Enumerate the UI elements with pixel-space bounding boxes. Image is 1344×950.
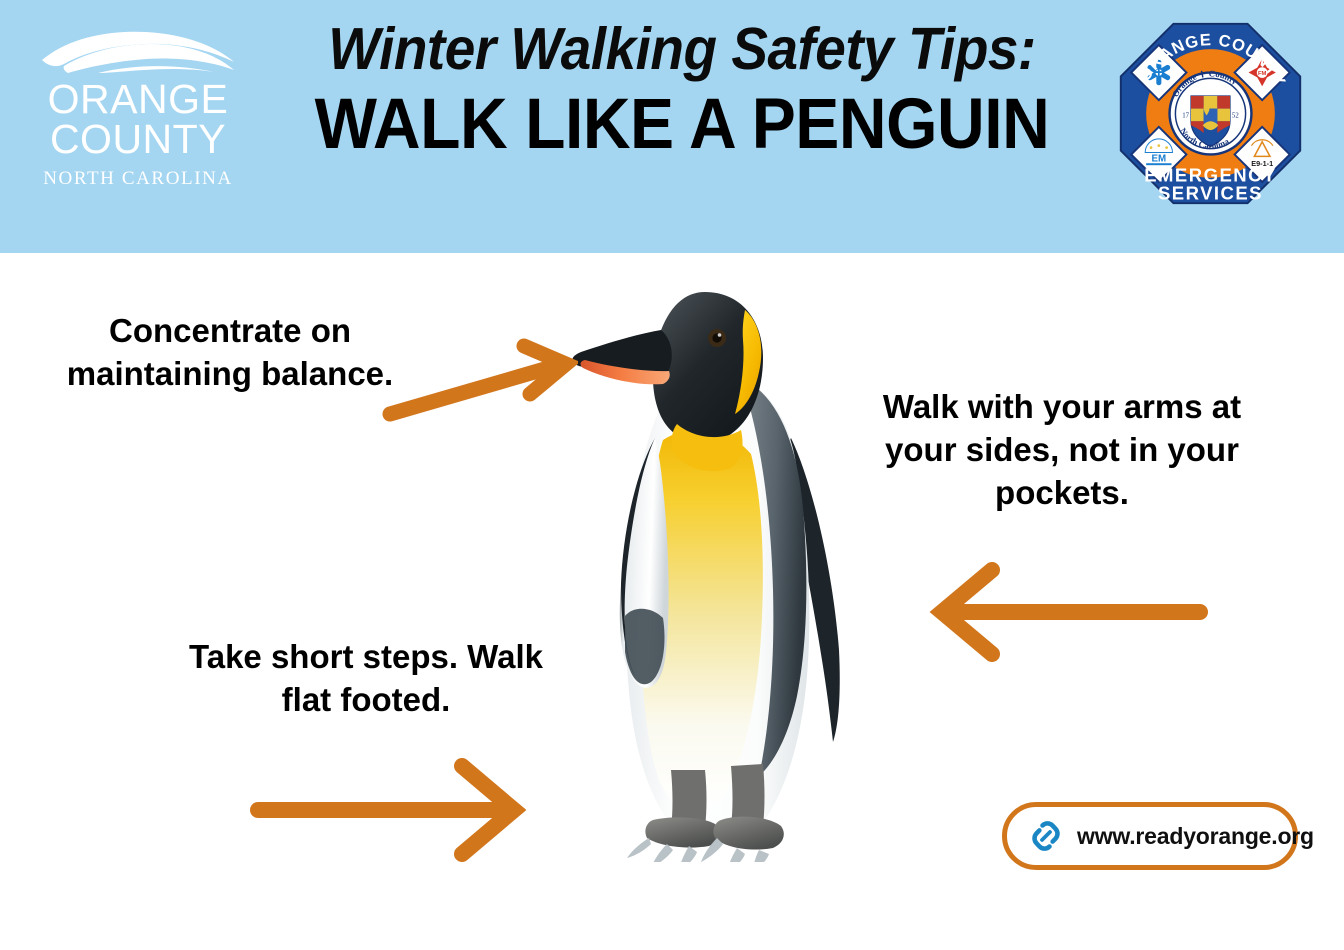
title-subheading: Winter Walking Safety Tips:: [291, 18, 1072, 81]
emergency-services-badge: Orange ✝ County North Carolina 17 52: [1113, 16, 1308, 211]
logo-name-line1: ORANGE: [38, 80, 238, 120]
seal-year-left: 17: [1182, 112, 1189, 119]
svg-text:EM: EM: [1152, 153, 1167, 164]
tip-balance-text: Concentrate on maintaining balance.: [56, 310, 404, 396]
title-headline: WALK LIKE A PENGUIN: [291, 87, 1072, 164]
tip-arms-text: Walk with your arms at your sides, not i…: [846, 386, 1278, 515]
arrow-up-right-icon: [378, 338, 578, 430]
infographic-poster: ORANGE COUNTY NORTH CAROLINA Winter Walk…: [0, 0, 1344, 950]
penguin-left-foot: [645, 817, 718, 847]
king-penguin-illustration: [545, 272, 875, 862]
tip-steps-text: Take short steps. Walk flat footed.: [176, 636, 556, 722]
arrow-right-icon: [248, 758, 526, 862]
arrow-left-icon: [928, 560, 1212, 664]
page-title: Winter Walking Safety Tips: WALK LIKE A …: [262, 18, 1102, 163]
logo-county-name: ORANGE COUNTY: [38, 80, 238, 160]
logo-name-line2: COUNTY: [38, 120, 238, 160]
website-badge[interactable]: www.readyorange.org: [1002, 802, 1298, 870]
penguin-right-leg: [731, 764, 765, 826]
header-band: ORANGE COUNTY NORTH CAROLINA Winter Walk…: [0, 0, 1344, 253]
logo-state-name: NORTH CAROLINA: [38, 168, 238, 190]
chain-link-icon: [1025, 815, 1067, 857]
website-url-text: www.readyorange.org: [1077, 823, 1314, 850]
orange-county-logo: ORANGE COUNTY NORTH CAROLINA: [38, 26, 238, 196]
badge-bottom-text-line2: SERVICES: [1158, 182, 1263, 203]
seal-year-right: 52: [1232, 112, 1239, 119]
